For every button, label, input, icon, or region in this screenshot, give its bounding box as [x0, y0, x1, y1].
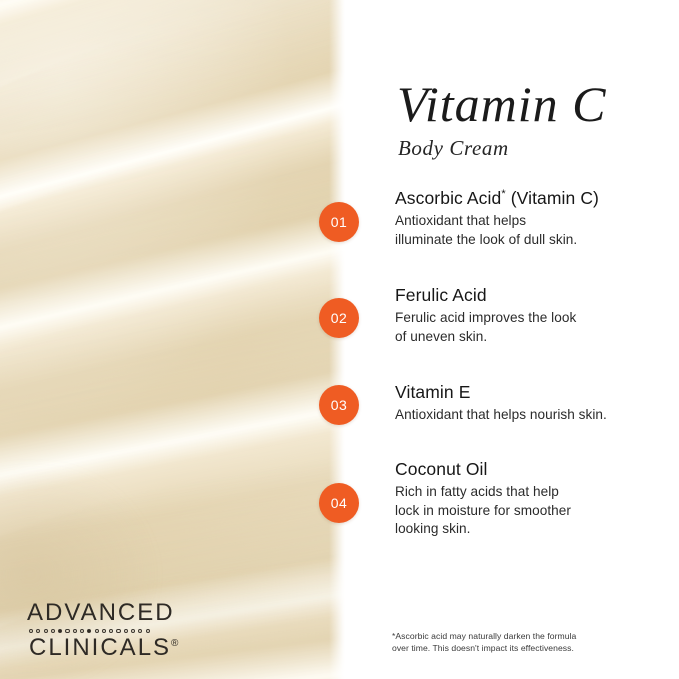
- logo-dot-4: [51, 629, 55, 633]
- brand-logo-line-1: ADVANCED: [27, 600, 207, 625]
- logo-dot-2: [36, 629, 40, 633]
- cream-texture-photo: [0, 0, 345, 679]
- logo-dot-11: [102, 629, 106, 633]
- logo-dot-13: [116, 629, 120, 633]
- feature-item-1: Ascorbic Acid* (Vitamin C) Antioxidant t…: [395, 188, 675, 249]
- panel-seam-gradient: [329, 0, 345, 679]
- logo-dot-8: [80, 629, 84, 633]
- logo-dot-5: [58, 629, 62, 633]
- logo-dot-9: [87, 629, 91, 633]
- feature-badge-2: 02: [319, 298, 359, 338]
- logo-dot-10: [95, 629, 99, 633]
- feature-title-1: Ascorbic Acid* (Vitamin C): [395, 188, 675, 210]
- feature-description-4: Rich in fatty acids that help lock in mo…: [395, 483, 675, 539]
- registered-trademark-icon: ®: [171, 638, 178, 649]
- feature-badge-3: 03: [319, 385, 359, 425]
- feature-title-3: Vitamin E: [395, 382, 675, 404]
- brand-logo: ADVANCED CLINICALS®: [27, 600, 207, 660]
- brand-logo-line-2: CLINICALS®: [29, 635, 207, 660]
- feature-description-3: Antioxidant that helps nourish skin.: [395, 406, 675, 425]
- cream-highlight-top-left: [0, 0, 345, 150]
- feature-title-1-text: Ascorbic Acid: [395, 188, 501, 208]
- logo-dot-12: [109, 629, 113, 633]
- feature-badge-1: 01: [319, 202, 359, 242]
- feature-item-3: Vitamin E Antioxidant that helps nourish…: [395, 382, 675, 425]
- feature-item-4: Coconut Oil Rich in fatty acids that hel…: [395, 459, 675, 539]
- logo-dot-17: [146, 629, 150, 633]
- feature-description-1: Antioxidant that helps illuminate the lo…: [395, 212, 675, 250]
- logo-dot-14: [124, 629, 128, 633]
- feature-title-2: Ferulic Acid: [395, 285, 675, 307]
- feature-title-1-suffix: (Vitamin C): [506, 188, 599, 208]
- feature-title-4: Coconut Oil: [395, 459, 675, 481]
- logo-dot-7: [73, 629, 77, 633]
- feature-list: Ascorbic Acid* (Vitamin C) Antioxidant t…: [345, 0, 679, 679]
- logo-dot-1: [29, 629, 33, 633]
- logo-dot-16: [138, 629, 142, 633]
- footnote-text: *Ascorbic acid may naturally darken the …: [392, 630, 632, 655]
- logo-dot-3: [44, 629, 48, 633]
- feature-description-2: Ferulic acid improves the look of uneven…: [395, 309, 675, 347]
- info-panel: Vitamin C Body Cream Ascorbic Acid* (Vit…: [345, 0, 679, 679]
- feature-badge-4: 04: [319, 483, 359, 523]
- logo-dot-6: [65, 629, 69, 633]
- logo-dot-15: [131, 629, 135, 633]
- brand-logo-line-2-text: CLINICALS: [29, 634, 171, 661]
- feature-item-2: Ferulic Acid Ferulic acid improves the l…: [395, 285, 675, 346]
- product-infographic: ADVANCED CLINICALS® Vitamin C Body Cream…: [0, 0, 679, 679]
